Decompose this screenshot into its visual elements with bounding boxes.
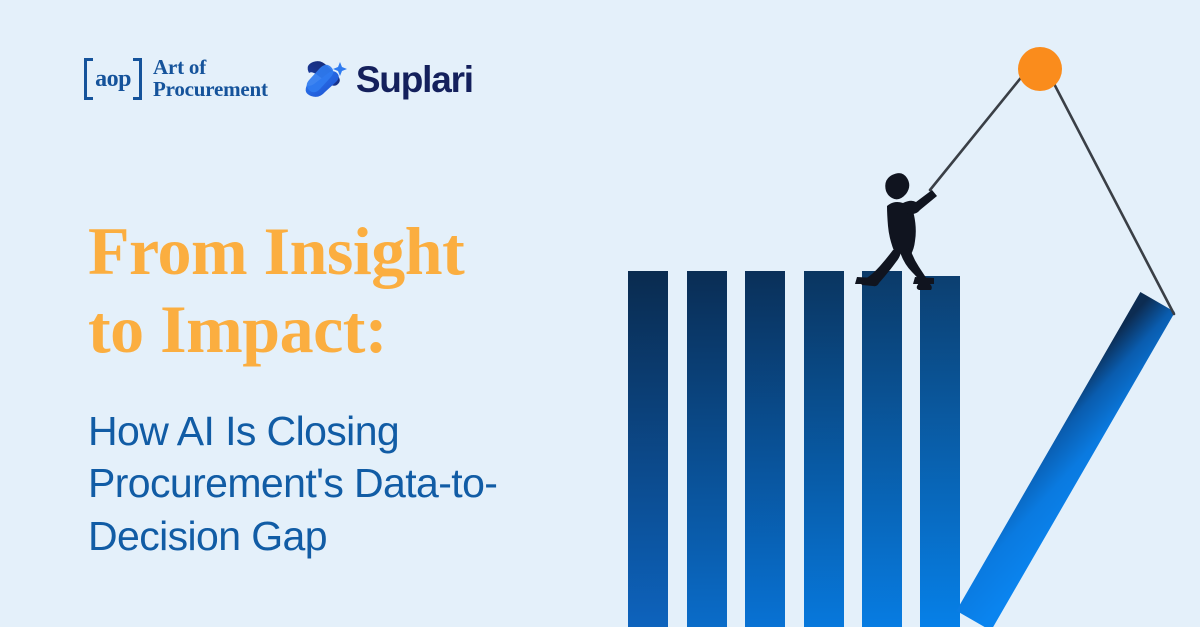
rope-lines (930, 64, 1174, 314)
poster-canvas: aop Art of Procurement Suplari From Insi… (0, 0, 1200, 627)
rope-right (1050, 76, 1174, 314)
subhead-line-2: Procurement's Data-to- (88, 457, 608, 509)
bar-1 (628, 271, 668, 627)
headline-line-2: to Impact: (88, 290, 608, 369)
pulley-circle-icon (1018, 47, 1062, 91)
tilted-bar (956, 292, 1175, 627)
walking-person-silhouette (855, 173, 937, 290)
logo-row: aop Art of Procurement Suplari (84, 55, 473, 103)
bar-5 (862, 271, 902, 627)
bar-4 (804, 271, 844, 627)
art-of-procurement-logo[interactable]: aop Art of Procurement (84, 57, 268, 100)
headline-line-1: From Insight (88, 212, 608, 291)
aop-bracket-frame-icon: aop (84, 58, 142, 100)
rope-left (930, 64, 1032, 190)
bar-3 (745, 271, 785, 627)
page-subtitle: How AI Is Closing Procurement's Data-to-… (88, 405, 608, 562)
chart-bars (628, 271, 960, 627)
suplari-logo[interactable]: Suplari (300, 55, 473, 103)
subhead-line-1: How AI Is Closing (88, 405, 608, 457)
bar-6 (920, 276, 960, 627)
aop-monogram: aop (84, 67, 142, 91)
aop-word-line-1: Art of (153, 55, 206, 79)
suplari-wordmark: Suplari (356, 61, 473, 98)
bar-2 (687, 271, 727, 627)
aop-wordmark: Art of Procurement (153, 57, 268, 100)
aop-word-line-2: Procurement (153, 77, 268, 101)
suplari-pinwheel-icon (300, 55, 348, 103)
page-title: From Insight to Impact: (88, 212, 608, 370)
subhead-line-3: Decision Gap (88, 510, 608, 562)
